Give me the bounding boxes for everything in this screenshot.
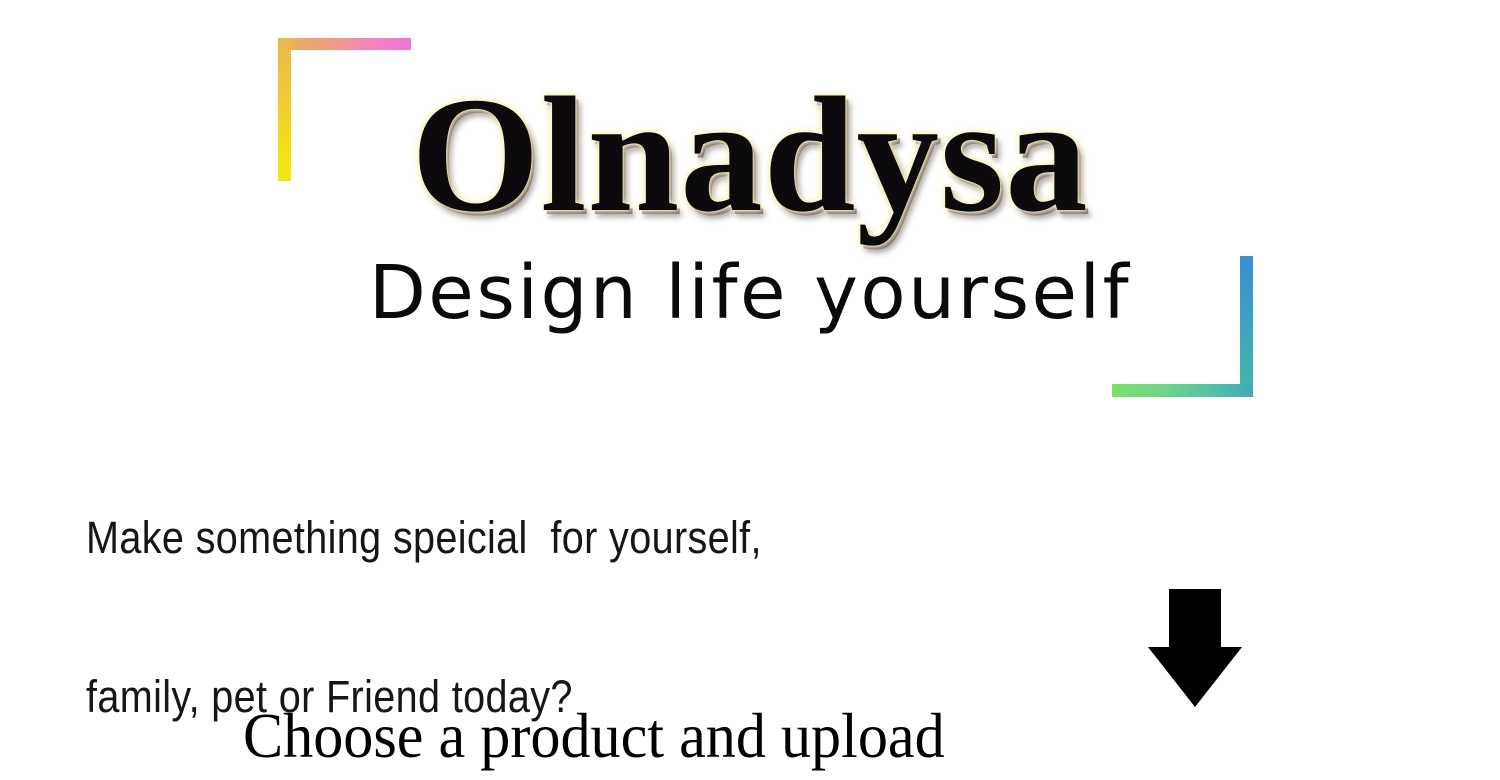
promo-banner: Olnadysa Design life yourself Make somet… — [0, 0, 1500, 780]
arrow-down-icon — [1148, 589, 1242, 707]
body-copy-line-1: Make something speicial for yourself, — [86, 511, 762, 564]
top-left-bracket-horizontal-bar — [278, 38, 411, 50]
brand-tagline: Design life yourself — [0, 256, 1500, 330]
bottom-right-bracket-vertical-bar — [1240, 256, 1253, 397]
bottom-right-bracket-horizontal-bar — [1112, 384, 1253, 397]
brand-title: Olnadysa — [0, 72, 1500, 237]
call-to-action-text: Choose a product and upload an image you… — [243, 566, 945, 780]
cta-line-1: Choose a product and upload — [243, 702, 945, 770]
